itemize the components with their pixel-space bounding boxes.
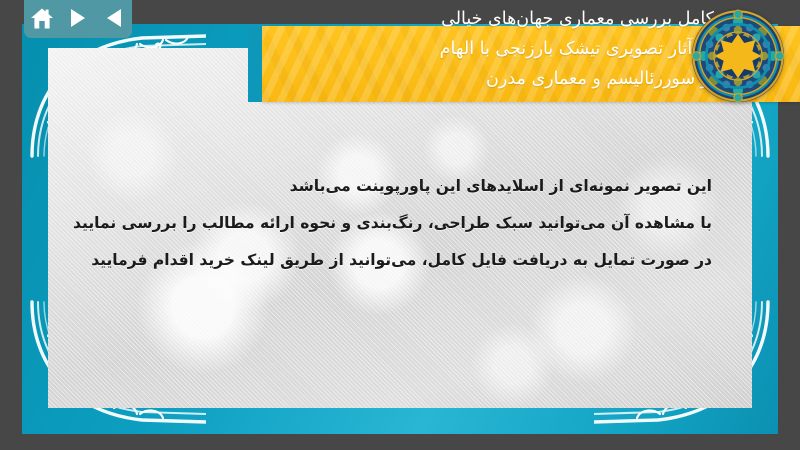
slide-viewer: این تصویر نمونه‌ای از اسلایدهای این پاور…	[0, 0, 800, 450]
mandala-ornament	[690, 8, 786, 104]
body-line-3: در صورت تمایل به دریافت فایل کامل، می‌تو…	[88, 242, 712, 279]
slide-content-area: این تصویر نمونه‌ای از اسلایدهای این پاور…	[48, 48, 752, 408]
slide-body-text: این تصویر نمونه‌ای از اسلایدهای این پاور…	[88, 168, 712, 279]
slide-navigation-bar[interactable]	[24, 0, 132, 38]
previous-slide-button[interactable]	[101, 5, 127, 31]
triangle-right-icon	[68, 7, 88, 29]
body-line-1: این تصویر نمونه‌ای از اسلایدهای این پاور…	[88, 168, 712, 205]
title-line-3: از سوررئالیسم و معماری مدرن	[276, 64, 714, 94]
body-line-2: با مشاهده آن می‌توانید سبک طراحی، رنگ‌بن…	[88, 205, 712, 242]
title-line-2: در آثار تصویری تیشک بارزنجی با الهام	[276, 34, 714, 64]
next-slide-button[interactable]	[65, 5, 91, 31]
home-icon	[30, 7, 54, 30]
title-line-1: کامل بررسی معماری جهان‌های خیالی	[276, 4, 714, 34]
triangle-left-icon	[104, 7, 124, 29]
home-button[interactable]	[29, 5, 55, 31]
